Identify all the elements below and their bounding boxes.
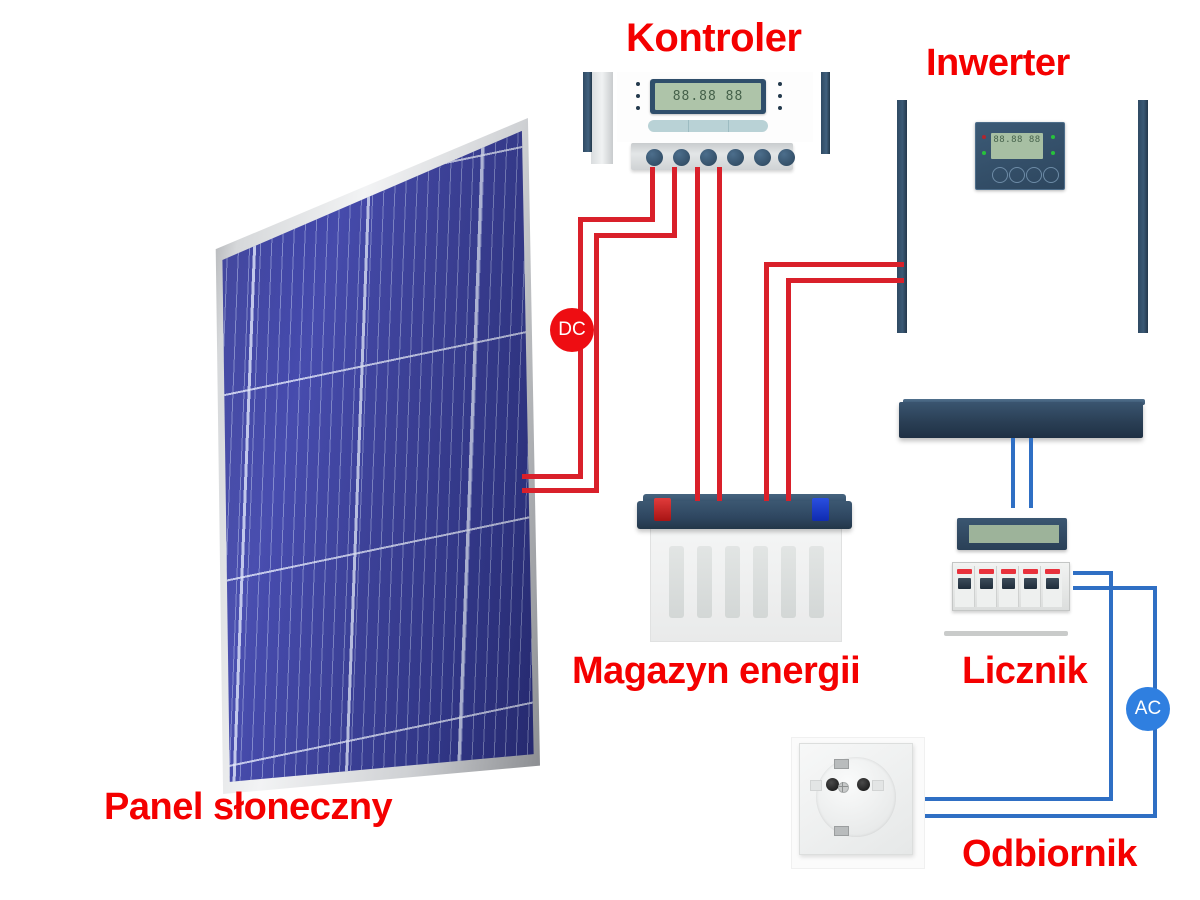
socket-earth-clip-bottom [834,826,849,836]
dc-wire-panel-a-top [578,217,655,222]
label-battery: Magazyn energii [572,650,860,693]
socket-pin-hole-right [857,778,870,791]
controller-display-case: 88.88 88 [650,79,766,114]
breaker-switch[interactable] [1024,578,1037,589]
socket-center-screw [838,782,849,793]
dc-wire-inverter-a-v [764,262,769,501]
inverter-status-led-red [982,135,986,139]
dc-wire-inverter-b-h [786,278,904,283]
dc-wire-panel-b-h [522,488,599,493]
battery-cell [697,546,712,618]
dc-wire-inverter-b-v [786,278,791,501]
battery-positive-terminal [654,498,671,521]
inverter-unit: 88.88 88 [975,122,1065,190]
inverter-lcd: 88.88 88 [991,133,1043,159]
ac-wire-socket-a-top [1073,571,1113,575]
label-controller: Kontroler [626,16,802,61]
controller-left-plate [591,72,613,164]
distribution-busbar [899,402,1143,438]
inverter-lcd-text: 88.88 88 [991,135,1043,145]
battery-cell [809,546,824,618]
socket-earth-clip-top [834,759,849,769]
controller-led [778,82,782,86]
ac-wire-socket-b-top [1073,586,1157,590]
breaker-indicator [1001,569,1016,574]
dc-badge-text: DC [558,319,585,341]
controller-terminal-knob[interactable] [727,149,744,166]
ac-wire-socket-a-bottom [925,797,1113,801]
meter-lcd [969,525,1059,543]
meter-base-rail [944,631,1068,636]
dc-wire-panel-a-riser [650,167,655,222]
circuit-breaker[interactable] [977,566,997,607]
ac-wire-meter-a [1011,438,1015,508]
battery-cell [781,546,796,618]
controller-mount-bar-left [583,72,592,152]
dc-wire-panel-b-top [594,233,677,238]
circuit-breaker[interactable] [1021,566,1041,607]
dc-badge: DC [550,308,594,352]
breaker-switch[interactable] [1046,578,1059,589]
dc-wire-inverter-a-h [764,262,904,267]
battery-cell [669,546,684,618]
ac-wire-socket-b-bottom [925,814,1157,818]
controller-mount-bar-right [821,72,830,154]
battery-body [650,525,842,642]
inverter-status-led-green [982,151,986,155]
controller-terminal-knob[interactable] [700,149,717,166]
inverter-status-led-green [1051,135,1055,139]
battery-negative-terminal [812,498,829,521]
label-load: Odbiornik [962,833,1137,876]
circuit-breaker[interactable] [955,566,975,607]
breaker-switch[interactable] [1002,578,1015,589]
controller-terminal-knob[interactable] [673,149,690,166]
electricity-meter [957,518,1067,550]
ac-badge-text: AC [1135,698,1161,720]
socket-pin-hole-left [826,778,839,791]
inverter-button[interactable] [992,167,1008,183]
controller-led [636,82,640,86]
ac-badge: AC [1126,687,1170,731]
inverter-button[interactable] [1009,167,1025,183]
circuit-breaker[interactable] [1043,566,1062,607]
controller-lcd: 88.88 88 [655,83,761,110]
wall-socket [799,743,913,855]
controller-button-strip[interactable] [648,120,768,132]
breaker-panel [952,562,1070,611]
inverter-mount-bar-right [1138,100,1148,333]
solar-panel [205,118,540,794]
ac-wire-meter-b [1029,438,1033,508]
solar-system-diagram: 88.88 88 88.88 88 [0,0,1200,900]
label-inverter: Inwerter [926,42,1070,85]
socket-side-notch-right [872,780,884,791]
controller-led [778,94,782,98]
controller-led [778,106,782,110]
dc-wire-panel-b-riser [672,167,677,238]
dc-wire-panel-b-v [594,233,599,493]
controller-lcd-text: 88.88 88 [673,89,744,104]
breaker-indicator [1023,569,1038,574]
socket-side-notch-left [810,780,822,791]
label-solar-panel: Panel słoneczny [104,786,392,829]
inverter-mount-bar-left [897,100,907,333]
inverter-button[interactable] [1026,167,1042,183]
dc-wire-battery-b [717,167,722,501]
inverter-status-led-green [1051,151,1055,155]
inverter-button[interactable] [1043,167,1059,183]
controller-terminal-knob[interactable] [778,149,795,166]
ac-wire-socket-a-v [1109,571,1113,801]
breaker-switch[interactable] [980,578,993,589]
controller-led [636,106,640,110]
socket-recess [816,757,896,837]
dc-wire-panel-a-h [522,474,583,479]
breaker-indicator [979,569,994,574]
dc-wire-battery-a [695,167,700,501]
breaker-indicator [1045,569,1060,574]
breaker-switch[interactable] [958,578,971,589]
label-meter: Licznik [962,650,1087,693]
controller-terminal-knob[interactable] [646,149,663,166]
breaker-indicator [957,569,972,574]
controller-led [636,94,640,98]
circuit-breaker[interactable] [999,566,1019,607]
battery-cell [725,546,740,618]
solar-panel-sheen [205,118,540,794]
controller-terminal-knob[interactable] [754,149,771,166]
battery-cell [753,546,768,618]
